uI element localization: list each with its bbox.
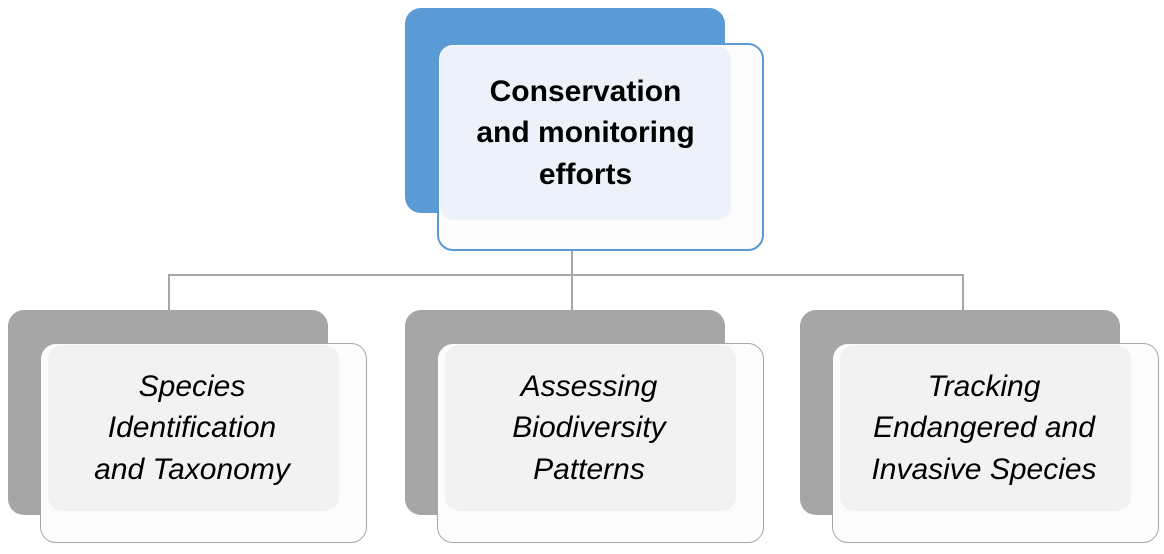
connector-root-stem [571, 247, 573, 311]
node-root[interactable]: Conservation and monitoring efforts [405, 8, 765, 252]
connector-horizontal-bus [168, 274, 964, 276]
node-species-identification-and-taxonomy[interactable]: Species Identification and Taxonomy [8, 310, 370, 546]
node-child-2-label: Tracking Endangered and Invasive Species [834, 345, 1134, 511]
node-root-label: Conservation and monitoring efforts [440, 46, 731, 220]
node-tracking-endangered-and-invasive-species[interactable]: Tracking Endangered and Invasive Species [800, 310, 1162, 546]
connector-branch-right [962, 274, 964, 312]
node-assessing-biodiversity-patterns[interactable]: Assessing Biodiversity Patterns [405, 310, 767, 546]
diagram-canvas: Conservation and monitoring efforts Spec… [0, 0, 1164, 554]
connector-branch-left [168, 274, 170, 312]
node-child-0-label: Species Identification and Taxonomy [42, 345, 342, 511]
node-child-1-label: Assessing Biodiversity Patterns [439, 345, 739, 511]
